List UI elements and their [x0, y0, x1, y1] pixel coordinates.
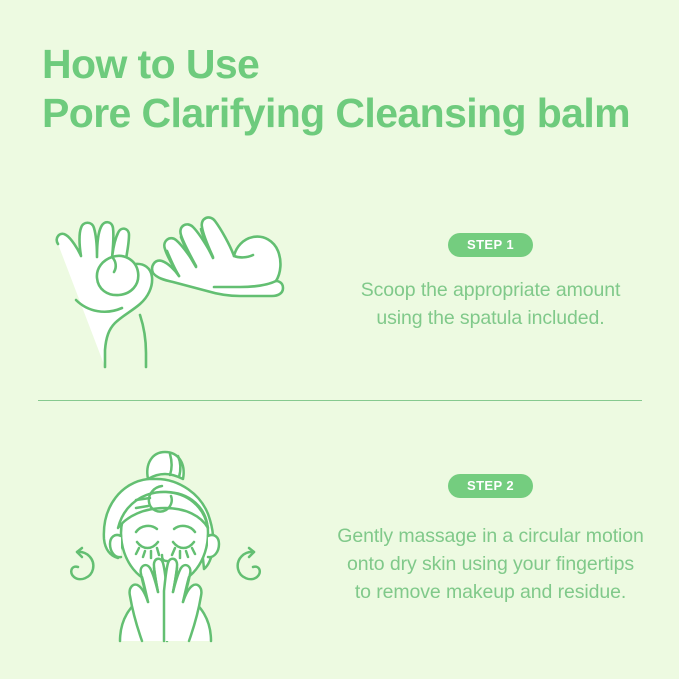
- steam-swirl-left: [71, 548, 93, 579]
- step-2-illustration: [0, 438, 330, 643]
- step-1-description-line-2: using the spatula included.: [361, 304, 621, 332]
- woman-massaging-face-icon: [58, 438, 273, 643]
- step-1-description: Scoop the appropriate amount using the s…: [361, 276, 621, 332]
- page-title: How to Use Pore Clarifying Cleansing bal…: [42, 40, 662, 138]
- step-2-copy: STEP 2 Gently massage in a circular moti…: [330, 474, 679, 606]
- step-2-section: STEP 2 Gently massage in a circular moti…: [0, 425, 679, 655]
- step-1-badge: STEP 1: [448, 233, 533, 257]
- step-2-description-line-2: onto dry skin using your fingertips: [337, 550, 643, 578]
- step-2-description-line-1: Gently massage in a circular motion: [337, 522, 643, 550]
- step-2-badge: STEP 2: [448, 474, 533, 498]
- title-line-1: How to Use: [42, 40, 662, 89]
- section-divider: [38, 400, 642, 401]
- step-2-description-line-3: to remove makeup and residue.: [337, 578, 643, 606]
- step-1-illustration: [0, 195, 330, 370]
- steam-swirl-right: [237, 548, 259, 579]
- hands-with-balm-icon: [40, 195, 290, 370]
- step-1-section: STEP 1 Scoop the appropriate amount usin…: [0, 182, 679, 382]
- step-1-copy: STEP 1 Scoop the appropriate amount usin…: [330, 233, 679, 332]
- step-2-description: Gently massage in a circular motion onto…: [337, 522, 643, 606]
- how-to-use-infographic: How to Use Pore Clarifying Cleansing bal…: [0, 0, 679, 679]
- step-1-description-line-1: Scoop the appropriate amount: [361, 276, 621, 304]
- title-line-2: Pore Clarifying Cleansing balm: [42, 89, 662, 138]
